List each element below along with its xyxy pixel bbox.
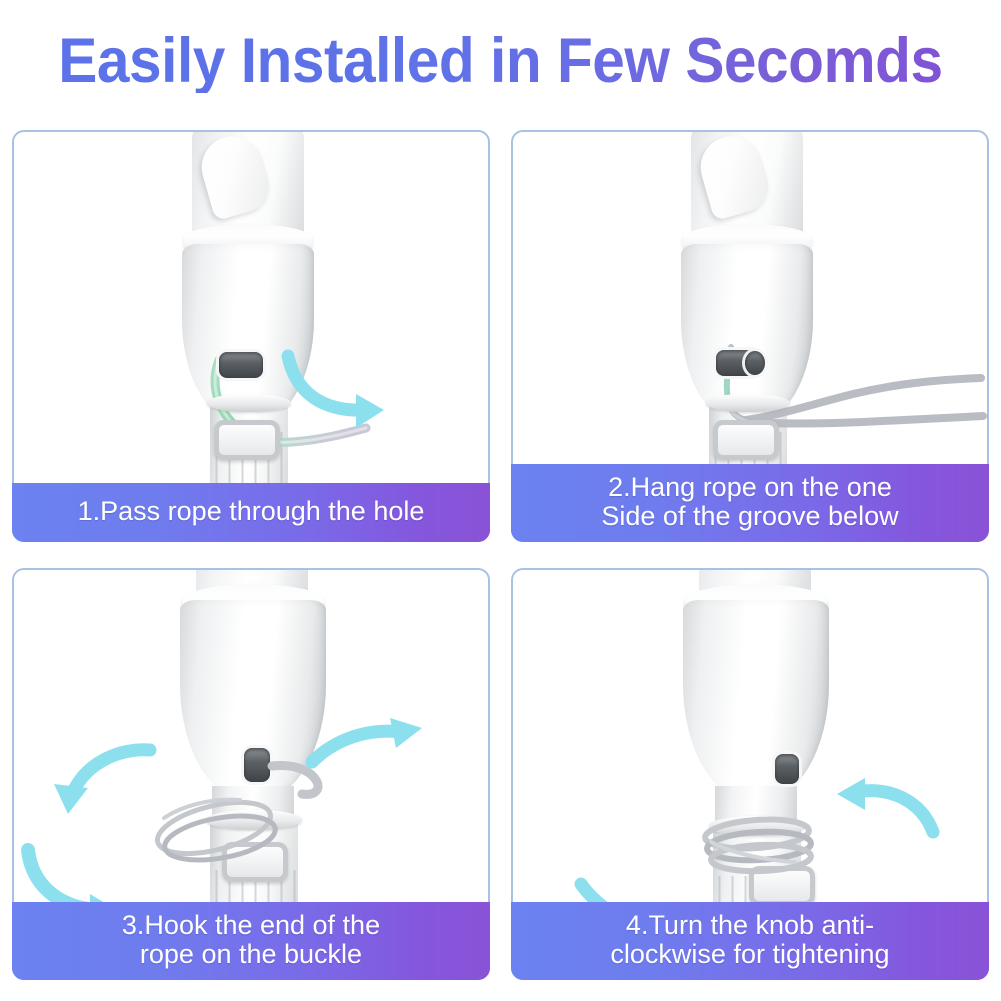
- page-header: Easily Installed in Few Secomds: [0, 0, 1001, 122]
- step-4-caption-line-2: clockwise for tightening: [521, 940, 979, 969]
- shaft-ring: [706, 394, 790, 412]
- step-card-4[interactable]: 4.Turn the knob anti- clockwise for tigh…: [511, 568, 989, 980]
- step-4-caption: 4.Turn the knob anti- clockwise for tigh…: [511, 902, 989, 980]
- step-3-caption: 3.Hook the end of the rope on the buckle: [12, 902, 490, 980]
- step-2-caption-line-1: 2.Hang rope on the one: [521, 473, 979, 502]
- step-3-caption-line-1: 3.Hook the end of the: [22, 911, 480, 940]
- rope-green: [14, 132, 488, 540]
- step-card-1[interactable]: 1.Pass rope through the hole: [12, 130, 490, 542]
- step-1-caption-line-1: 1.Pass rope through the hole: [22, 497, 480, 526]
- arrow-right-curved-icon: [282, 350, 412, 440]
- step-4-caption-line-1: 4.Turn the knob anti-: [521, 911, 979, 940]
- step-1-illustration: [14, 132, 488, 540]
- step-2-caption-line-2: Side of the groove below: [521, 502, 979, 531]
- step-card-3[interactable]: 3.Hook the end of the rope on the buckle: [12, 568, 490, 980]
- step-1-caption: 1.Pass rope through the hole: [12, 483, 490, 542]
- step-card-2[interactable]: 2.Hang rope on the one Side of the groov…: [511, 130, 989, 542]
- steps-grid: 1.Pass rope through the hole: [12, 130, 989, 980]
- step-3-caption-line-2: rope on the buckle: [22, 940, 480, 969]
- shaft-ring: [207, 394, 291, 412]
- rope-hole: [219, 352, 263, 378]
- buckle-latch: [214, 420, 280, 460]
- step-2-caption: 2.Hang rope on the one Side of the groov…: [511, 464, 989, 542]
- buckle-latch: [713, 420, 779, 460]
- groove-hole: [745, 351, 765, 375]
- page-title: Easily Installed in Few Secomds: [58, 30, 942, 93]
